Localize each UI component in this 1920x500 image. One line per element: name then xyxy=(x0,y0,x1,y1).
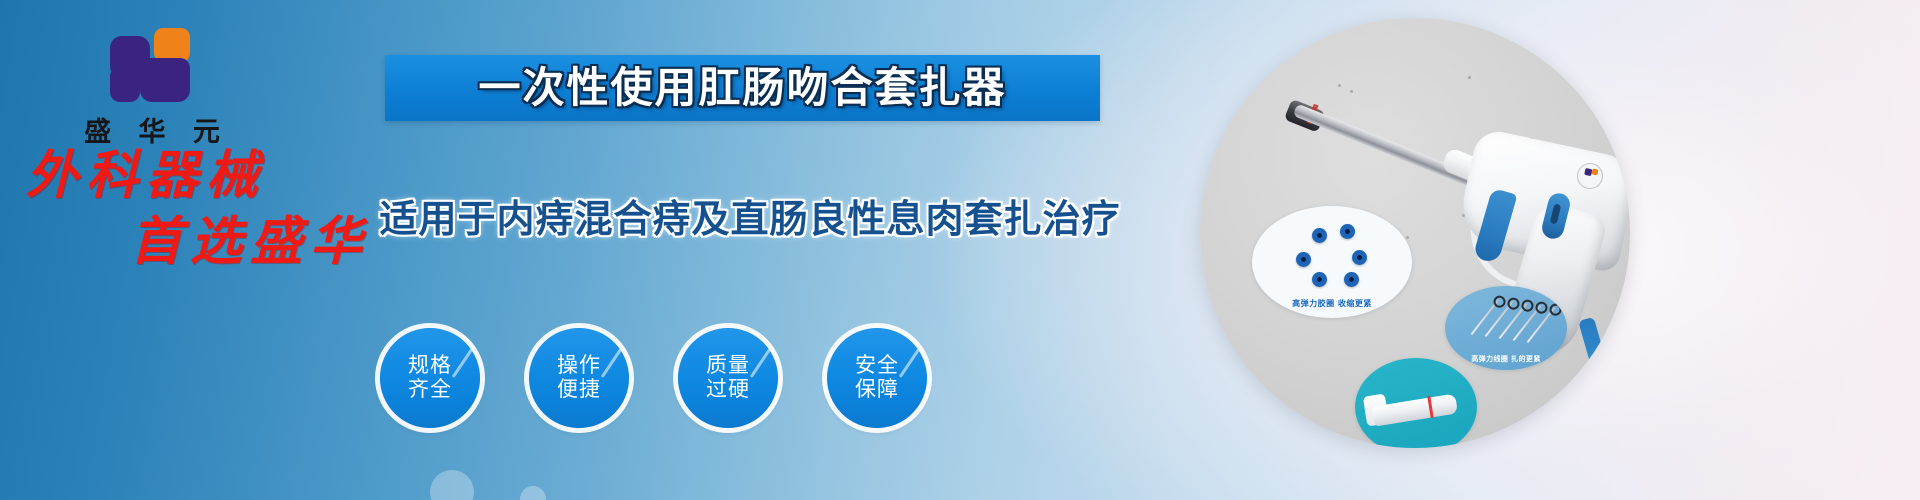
feature-line-1: 质量 xyxy=(706,353,750,377)
brand-name: 盛 华 元 xyxy=(62,110,242,149)
feature-circle-label: 规格 齐全 xyxy=(408,354,452,401)
page-subtitle: 适用于内痔混合痔及直肠良性息肉套扎治疗 xyxy=(360,188,1140,243)
feature-line-1: 安全 xyxy=(855,353,899,377)
feature-circle-list: 规格 齐全 操作 便捷 质量 过硬 安全 保障 xyxy=(380,328,927,428)
logo-block-right xyxy=(140,58,190,102)
logo-block-orange xyxy=(154,28,190,62)
feature-line-1: 操作 xyxy=(557,353,601,377)
shenghuayuan-logo-icon xyxy=(110,28,194,104)
feature-circle-safety[interactable]: 安全 保障 xyxy=(827,328,927,428)
feature-circle-specs[interactable]: 规格 齐全 xyxy=(380,328,480,428)
feature-line-2: 便捷 xyxy=(557,377,601,401)
decor-bubble xyxy=(430,470,474,500)
brand-slogan: 外科器械 首选盛华 xyxy=(18,150,418,268)
feature-circle-operation[interactable]: 操作 便捷 xyxy=(529,328,629,428)
slogan-line-1: 外科器械 xyxy=(26,150,418,202)
device-barrel xyxy=(1293,103,1493,194)
feature-line-2: 过硬 xyxy=(706,377,750,401)
feature-circle-label: 质量 过硬 xyxy=(706,354,750,401)
inset-needles: 高弹力线圈 扎的更紧 xyxy=(1445,286,1567,370)
slash-icon xyxy=(601,348,622,378)
slash-icon xyxy=(750,348,771,378)
feature-circle-label: 安全 保障 xyxy=(855,354,899,401)
slogan-line-2: 首选盛华 xyxy=(130,216,418,268)
feature-line-1: 规格 xyxy=(408,353,452,377)
inset-rubber-rings: 高弹力胶圈 收缩更紧 xyxy=(1252,206,1412,318)
inset-rings-caption: 高弹力胶圈 收缩更紧 xyxy=(1252,298,1412,309)
slash-icon xyxy=(452,348,473,378)
feature-circle-label: 操作 便捷 xyxy=(557,354,601,401)
slash-icon xyxy=(899,348,920,378)
decor-bubble xyxy=(520,486,546,500)
inset-needles-caption: 高弹力线圈 扎的更紧 xyxy=(1445,354,1567,364)
title-bar: 一次性使用肛肠吻合套扎器 xyxy=(385,55,1100,121)
page-title: 一次性使用肛肠吻合套扎器 xyxy=(385,67,1100,109)
device-cord xyxy=(1578,317,1608,371)
feature-line-2: 保障 xyxy=(855,377,899,401)
promo-banner: 盛 华 元 一次性使用肛肠吻合套扎器 适用于内痔混合痔及直肠良性息肉套扎治疗 外… xyxy=(0,0,1920,500)
logo-block-bottom xyxy=(110,68,140,102)
feature-line-2: 齐全 xyxy=(408,377,452,401)
inset-tube xyxy=(1355,358,1477,448)
brand-logo[interactable]: 盛 华 元 xyxy=(62,28,242,149)
feature-circle-quality[interactable]: 质量 过硬 xyxy=(678,328,778,428)
product-photo: 高弹力胶圈 收缩更紧 高弹力线圈 扎的更紧 xyxy=(1200,18,1630,448)
